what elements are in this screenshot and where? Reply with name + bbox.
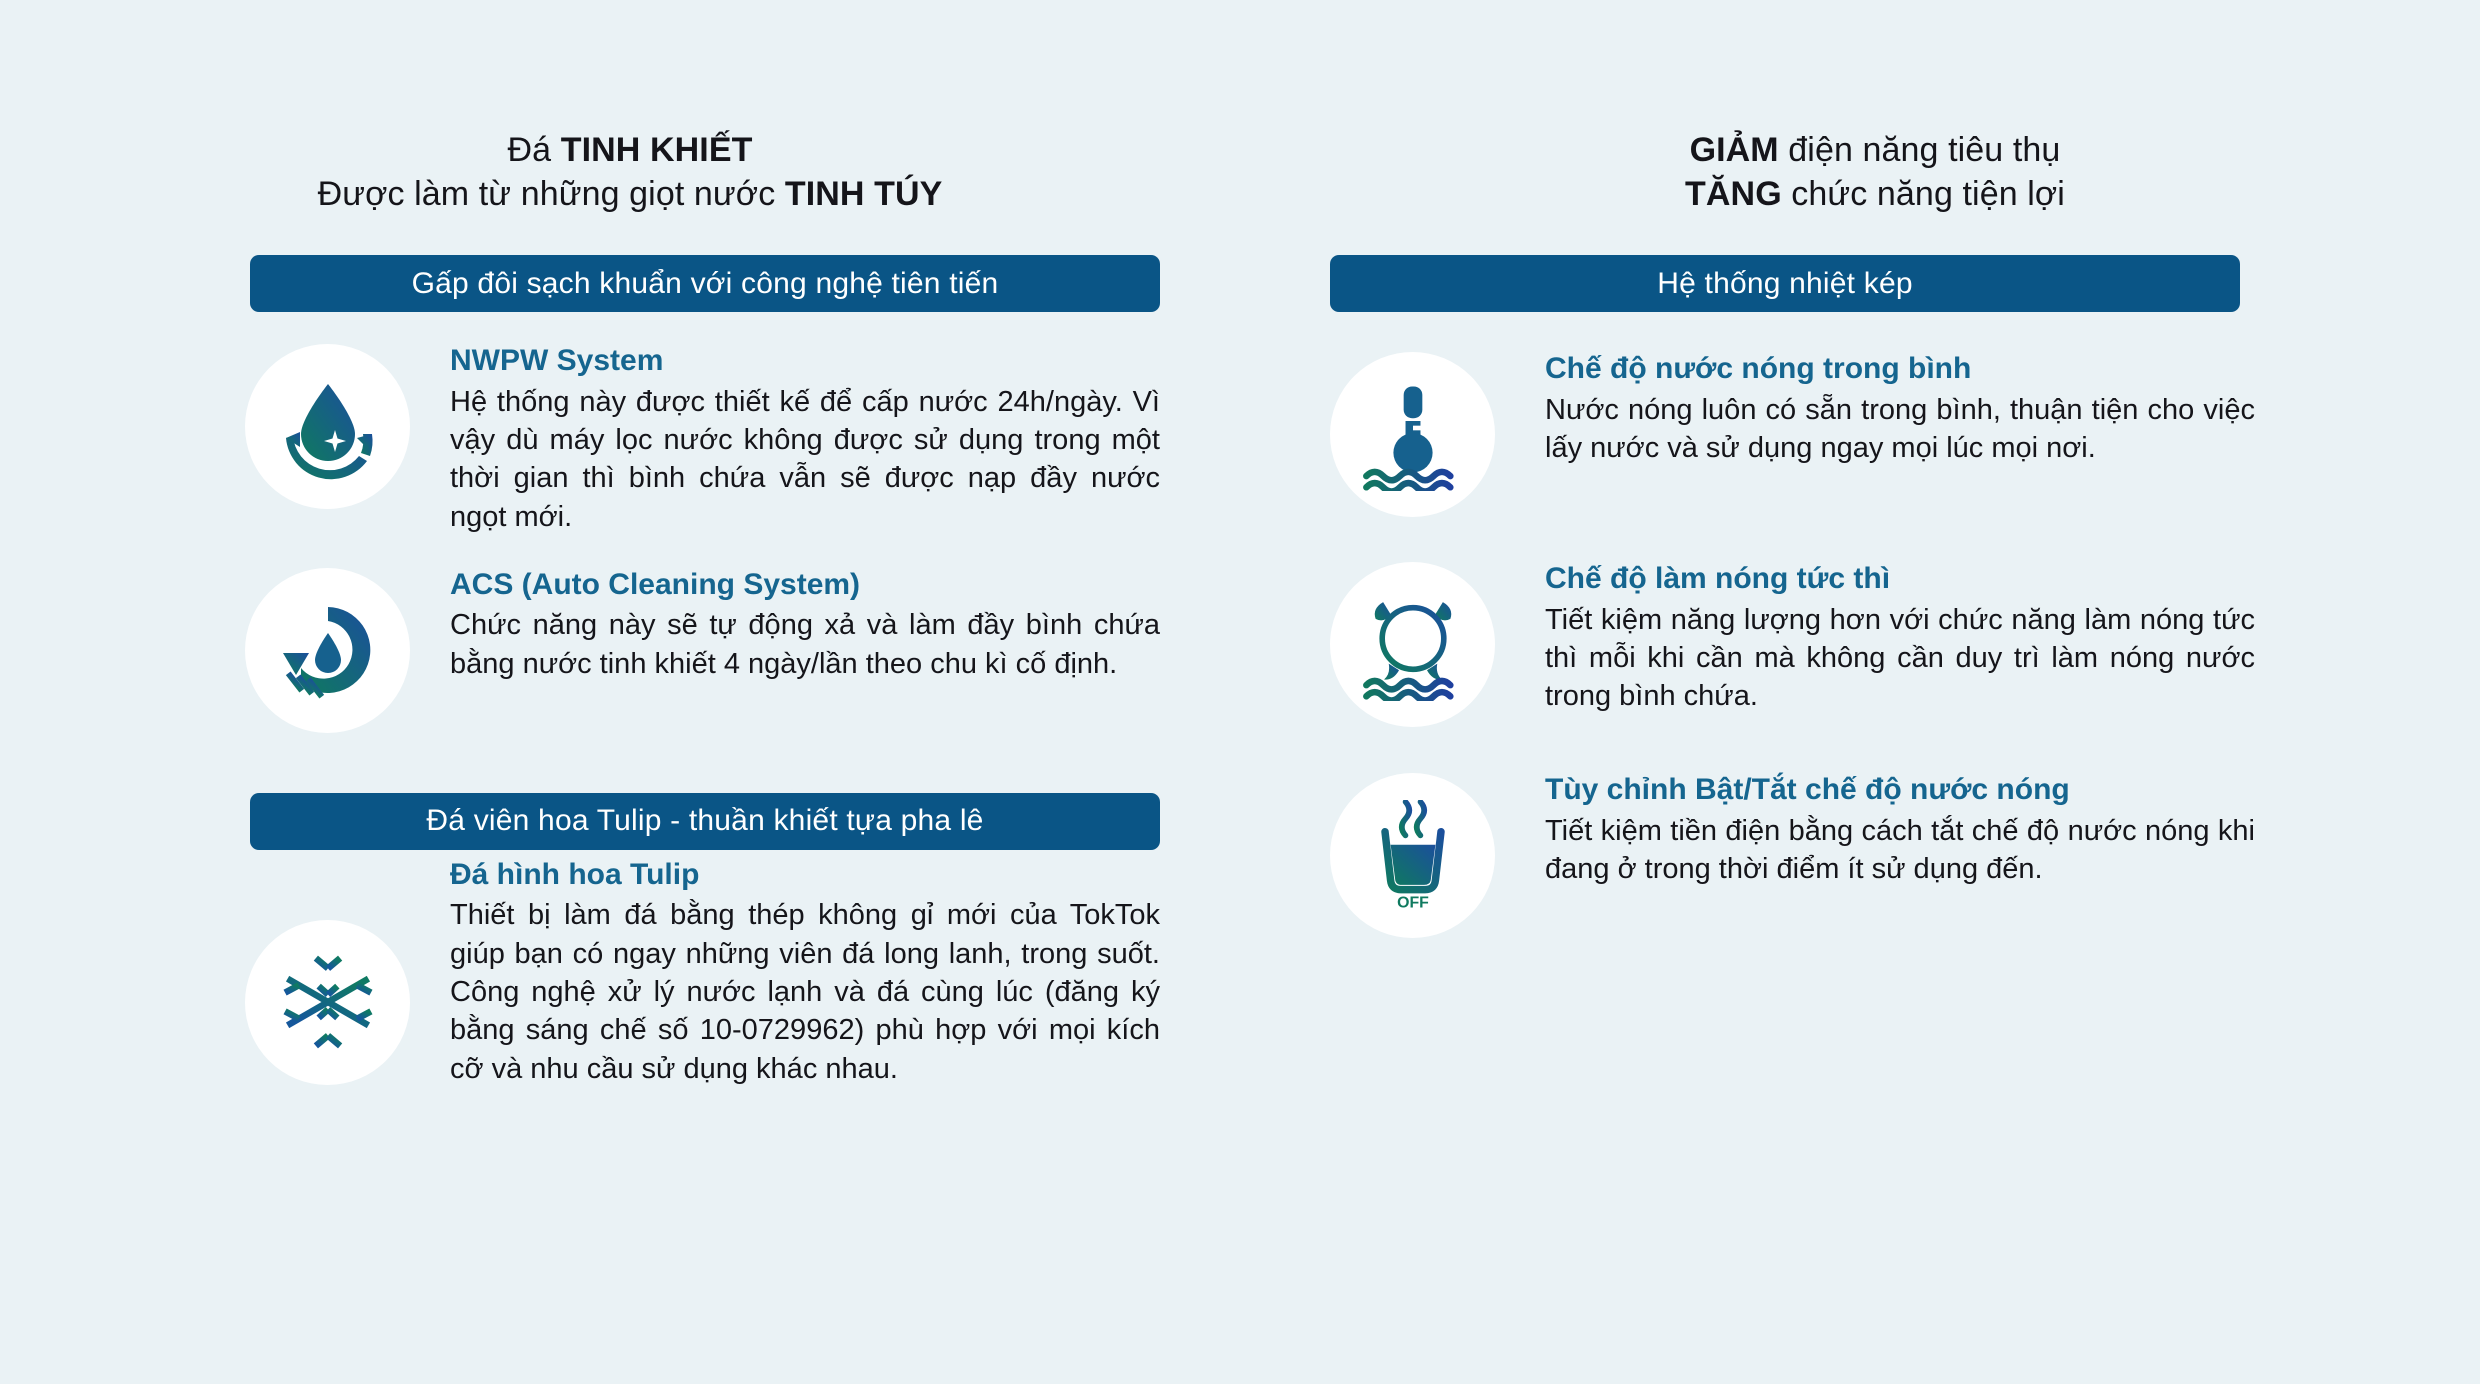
right-headline-line-2-plain: chức năng tiện lợi (1782, 175, 2065, 213)
alarm-clock-water-icon (1330, 562, 1495, 727)
feature-instant-heating-text: Tiết kiệm năng lượng hơn với chức năng l… (1545, 601, 2255, 716)
banner-tulip-ice: Đá viên hoa Tulip - thuần khiết tựa pha … (250, 793, 1160, 850)
feature-hot-water-toggle-title: Tùy chỉnh Bật/Tắt chế độ nước nóng (1545, 773, 2255, 808)
banner-double-sterilization-label: Gấp đôi sạch khuẩn với công nghệ tiên ti… (412, 267, 999, 301)
feature-nwpw-body: NWPW System Hệ thống này được thiết kế đ… (410, 344, 1160, 536)
left-headline-line-1: Đá TINH KHIẾT (20, 128, 1240, 172)
feature-tulip-title: Đá hình hoa Tulip (450, 858, 1160, 893)
feature-acs-text: Chức năng này sẽ tự động xả và làm đầy b… (450, 606, 1160, 683)
feature-instant-heating: Chế độ làm nóng tức thì Tiết kiệm năng l… (1330, 562, 2255, 727)
feature-hot-water-tank-body: Chế độ nước nóng trong bình Nước nóng lu… (1495, 352, 2255, 467)
right-column: GIẢM điện năng tiêu thụ TĂNG chức năng t… (1240, 0, 2480, 1384)
feature-tulip-ice: Đá hình hoa Tulip Thiết bị làm đá bằng t… (250, 858, 1160, 1088)
hot-cup-off-label: OFF (1397, 894, 1429, 911)
left-headline-line-2-bold: TINH TÚY (785, 175, 943, 213)
feature-instant-heating-body: Chế độ làm nóng tức thì Tiết kiệm năng l… (1495, 562, 2255, 715)
water-drop-recycle-icon (245, 344, 410, 509)
infographic-page: Đá TINH KHIẾT Được làm từ những giọt nướ… (0, 0, 2480, 1384)
right-headline-line-1-bold: GIẢM (1690, 131, 1779, 169)
feature-instant-heating-title: Chế độ làm nóng tức thì (1545, 562, 2255, 597)
feature-nwpw-text: Hệ thống này được thiết kế để cấp nước 2… (450, 383, 1160, 536)
feature-acs: ACS (Auto Cleaning System) Chức năng này… (250, 568, 1160, 733)
feature-hot-water-toggle-body: Tùy chỉnh Bật/Tắt chế độ nước nóng Tiết … (1495, 773, 2255, 888)
left-headline-line-2-plain: Được làm từ những giọt nước (318, 175, 785, 213)
feature-hot-water-toggle-text: Tiết kiệm tiền điện bằng cách tắt chế độ… (1545, 812, 2255, 889)
right-headline-line-2-bold: TĂNG (1685, 175, 1782, 213)
left-headline-line-1-plain: Đá (508, 131, 561, 169)
right-headline-line-2: TĂNG chức năng tiện lợi (1270, 172, 2480, 216)
feature-hot-water-tank: Chế độ nước nóng trong bình Nước nóng lu… (1330, 352, 2255, 517)
feature-nwpw-system: NWPW System Hệ thống này được thiết kế đ… (250, 344, 1160, 536)
feature-hot-water-toggle: OFF Tùy chỉnh Bật/Tắt chế độ nước nóng T… (1330, 773, 2255, 938)
banner-dual-heating-label: Hệ thống nhiệt kép (1657, 267, 1912, 301)
feature-acs-body: ACS (Auto Cleaning System) Chức năng này… (410, 568, 1160, 683)
thermometer-water-icon (1330, 352, 1495, 517)
right-headline-line-1-plain: điện năng tiêu thụ (1779, 131, 2061, 169)
left-headline: Đá TINH KHIẾT Được làm từ những giọt nướ… (0, 128, 1240, 216)
auto-cleaning-cycle-icon (245, 568, 410, 733)
right-headline-line-1: GIẢM điện năng tiêu thụ (1270, 128, 2480, 172)
hot-cup-off-icon: OFF (1330, 773, 1495, 938)
right-headline: GIẢM điện năng tiêu thụ TĂNG chức năng t… (1240, 128, 2480, 216)
snowflake-icon (245, 920, 410, 1085)
left-column: Đá TINH KHIẾT Được làm từ những giọt nướ… (0, 0, 1240, 1384)
feature-tulip-body: Đá hình hoa Tulip Thiết bị làm đá bằng t… (410, 858, 1160, 1088)
banner-double-sterilization: Gấp đôi sạch khuẩn với công nghệ tiên ti… (250, 255, 1160, 312)
feature-acs-title: ACS (Auto Cleaning System) (450, 568, 1160, 603)
feature-hot-water-tank-text: Nước nóng luôn có sẵn trong bình, thuận … (1545, 391, 2255, 468)
feature-tulip-text: Thiết bị làm đá bằng thép không gỉ mới c… (450, 896, 1160, 1087)
left-headline-line-2: Được làm từ những giọt nước TINH TÚY (20, 172, 1240, 216)
banner-tulip-ice-label: Đá viên hoa Tulip - thuần khiết tựa pha … (426, 804, 983, 838)
banner-dual-heating: Hệ thống nhiệt kép (1330, 255, 2240, 312)
left-headline-line-1-bold: TINH KHIẾT (561, 131, 753, 169)
feature-nwpw-title: NWPW System (450, 344, 1160, 379)
feature-hot-water-tank-title: Chế độ nước nóng trong bình (1545, 352, 2255, 387)
